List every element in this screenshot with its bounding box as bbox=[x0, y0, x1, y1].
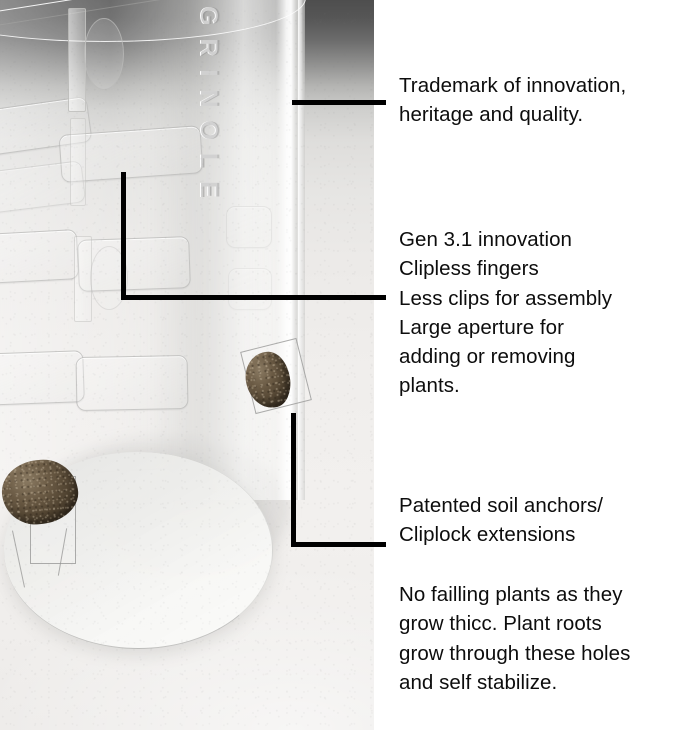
annotation-root-stabilization: No failling plants as they grow thicc. P… bbox=[399, 580, 679, 697]
annotation-patented-soil-anchors: Patented soil anchors/ Cliplock extensio… bbox=[399, 491, 679, 550]
leader-line-anchors-horizontal bbox=[291, 542, 386, 547]
leader-line-anchors-vertical bbox=[291, 413, 296, 547]
backdrop-grain bbox=[0, 0, 374, 730]
leader-line-gen31-horizontal bbox=[121, 295, 386, 300]
product-photo: GRINOLE bbox=[0, 0, 374, 730]
infographic-page: GRINOLE Trademark of innovation, heritag… bbox=[0, 0, 679, 730]
leader-line-trademark bbox=[292, 100, 386, 105]
annotation-gen-3-1-innovation: Gen 3.1 innovation Clipless fingers Less… bbox=[399, 225, 679, 401]
leader-line-gen31-vertical bbox=[121, 172, 126, 300]
annotation-trademark: Trademark of innovation, heritage and qu… bbox=[399, 71, 679, 130]
